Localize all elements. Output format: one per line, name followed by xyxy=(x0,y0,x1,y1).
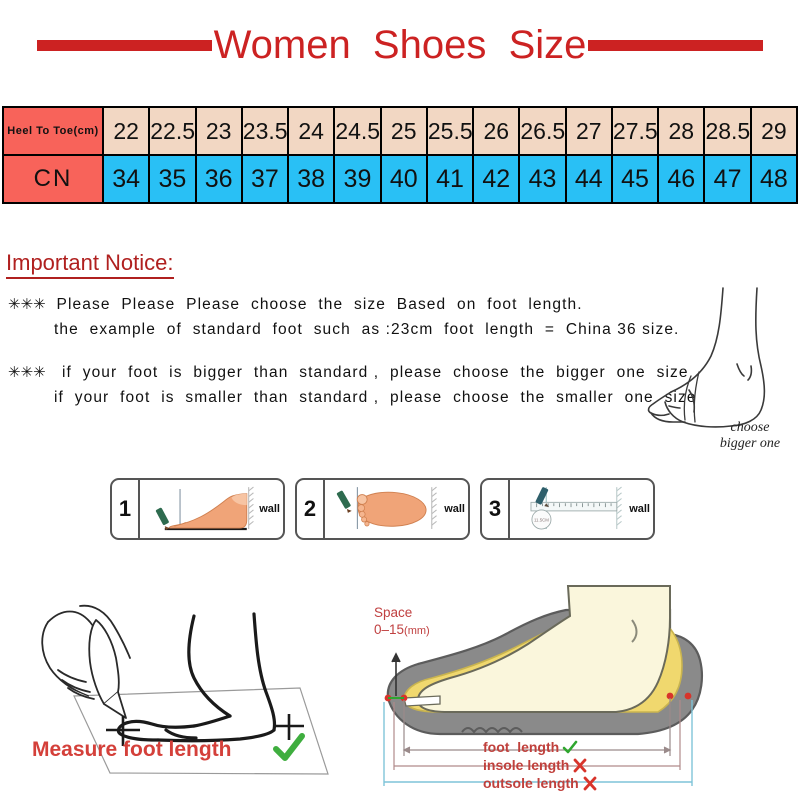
size-conversion-table: Heel To Toe(cm) 22 22.5 23 23.5 24 24.5 … xyxy=(2,106,798,204)
asterisk-icon: ✳✳✳ xyxy=(8,296,46,313)
sketch-caption-line2: bigger one xyxy=(695,436,800,452)
cross-icon xyxy=(582,776,598,791)
title-rule-left xyxy=(37,40,212,51)
step-panel-1: 1 xyxy=(110,478,285,540)
wall-label: wall xyxy=(444,503,465,515)
cell-cn: 39 xyxy=(334,155,380,203)
notice-text: if your foot is bigger than standard , p… xyxy=(62,364,689,381)
step-illustration-top-foot: wall xyxy=(325,480,468,538)
cell-cn: 34 xyxy=(103,155,149,203)
cell-cm: 26 xyxy=(473,107,519,155)
cell-cm: 25.5 xyxy=(427,107,473,155)
measurement-label-row: outsole length xyxy=(483,774,598,792)
wall-label: wall xyxy=(629,503,650,515)
step-number: 2 xyxy=(297,480,325,538)
sketch-caption: choose bigger one xyxy=(695,420,800,452)
table-row-heel-to-toe: Heel To Toe(cm) 22 22.5 23 23.5 24 24.5 … xyxy=(3,107,797,155)
cell-cn: 46 xyxy=(658,155,704,203)
cell-cn: 47 xyxy=(704,155,750,203)
notice-paragraph: ✳✳✳ if your foot is bigger than standard… xyxy=(8,360,668,410)
cell-cn: 35 xyxy=(149,155,195,203)
notice-line: if your foot is smaller than standard , … xyxy=(8,385,668,410)
space-label-line1: Space xyxy=(374,604,430,621)
cell-cm: 23.5 xyxy=(242,107,288,155)
shoe-measurement-labels: foot length insole length outsole length xyxy=(483,738,598,792)
cell-cm: 28.5 xyxy=(704,107,750,155)
space-label-line2: 0–15 xyxy=(374,622,404,637)
cell-cm: 26.5 xyxy=(519,107,565,155)
notice-heading: Important Notice: xyxy=(6,250,174,279)
wall-label: wall xyxy=(259,503,280,515)
step-panel-2: 2 xyxy=(295,478,470,540)
cell-cn: 42 xyxy=(473,155,519,203)
measure-foot-caption: Measure foot length xyxy=(32,738,232,762)
cell-cn: 45 xyxy=(612,155,658,203)
cell-cm: 27.5 xyxy=(612,107,658,155)
measurement-label: insole length xyxy=(483,757,569,773)
measurement-label-row: foot length xyxy=(483,738,598,756)
step-illustration-side-foot: wall xyxy=(140,480,283,538)
cell-cn: 41 xyxy=(427,155,473,203)
page-title: Women Shoes Size xyxy=(214,23,587,67)
space-label-line2-wrap: 0–15(mm) xyxy=(374,621,430,640)
cell-cn: 40 xyxy=(381,155,427,203)
cell-cm: 29 xyxy=(751,107,797,155)
page-title-row: Women Shoes Size xyxy=(0,18,800,72)
row-header-cn: CN xyxy=(3,155,103,203)
notice-paragraph: ✳✳✳ Please Please Please choose the size… xyxy=(8,292,668,342)
step-panel-3: 3 xyxy=(480,478,655,540)
space-label: Space 0–15(mm) xyxy=(374,604,430,640)
cell-cm: 25 xyxy=(381,107,427,155)
cell-cn: 48 xyxy=(751,155,797,203)
sketch-caption-line1: choose xyxy=(695,420,800,436)
measurement-label: outsole length xyxy=(483,775,579,791)
cell-cm: 24.5 xyxy=(334,107,380,155)
notice-text-block: ✳✳✳ Please Please Please choose the size… xyxy=(8,292,668,428)
cell-cm: 24 xyxy=(288,107,334,155)
cell-cm: 27 xyxy=(566,107,612,155)
step-illustration-ruler: 11.5CM wall xyxy=(510,480,653,538)
cell-cn: 43 xyxy=(519,155,565,203)
measurement-steps: 1 xyxy=(110,478,655,540)
cell-cm: 22 xyxy=(103,107,149,155)
notice-line: ✳✳✳ if your foot is bigger than standard… xyxy=(8,360,668,385)
notice-line: ✳✳✳ Please Please Please choose the size… xyxy=(8,292,668,317)
measurement-label: foot length xyxy=(483,739,559,755)
cell-cn: 37 xyxy=(242,155,288,203)
cell-cm: 23 xyxy=(196,107,242,155)
notice-text: Please Please Please choose the size Bas… xyxy=(57,296,583,313)
notice-line: the example of standard foot such as :23… xyxy=(8,317,668,342)
step-number: 3 xyxy=(482,480,510,538)
cell-cm: 22.5 xyxy=(149,107,195,155)
cell-cn: 36 xyxy=(196,155,242,203)
check-icon xyxy=(272,733,306,768)
title-rule-right xyxy=(588,40,763,51)
measurement-label-row: insole length xyxy=(483,756,598,774)
asterisk-icon: ✳✳✳ xyxy=(8,364,46,381)
row-header-heel-to-toe: Heel To Toe(cm) xyxy=(3,107,103,155)
table-row-cn: CN 34 35 36 37 38 39 40 41 42 43 44 45 4… xyxy=(3,155,797,203)
cell-cn: 38 xyxy=(288,155,334,203)
cell-cn: 44 xyxy=(566,155,612,203)
space-label-unit: (mm) xyxy=(404,625,430,637)
ruler-badge-text: 11.5CM xyxy=(534,517,549,522)
step-number: 1 xyxy=(112,480,140,538)
cross-icon xyxy=(572,758,588,773)
cell-cm: 28 xyxy=(658,107,704,155)
size-chart-page: Women Shoes Size Heel To Toe(cm) 22 22.5… xyxy=(0,0,800,800)
check-icon xyxy=(562,740,578,755)
